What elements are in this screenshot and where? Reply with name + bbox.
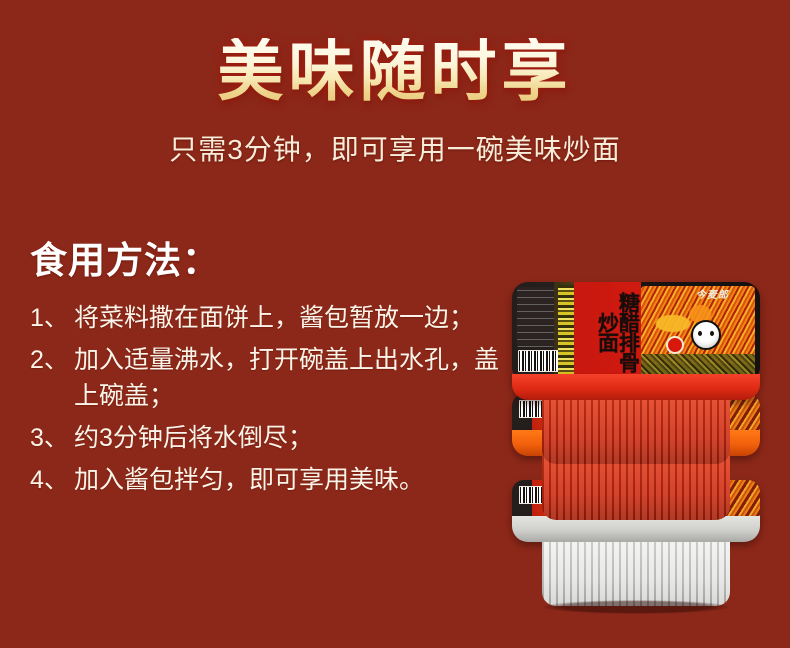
page-subtitle: 只需3分钟，即可享用一碗美味炒面 bbox=[0, 128, 790, 168]
usage-step-index: 3、 bbox=[30, 420, 74, 456]
promo-page: 美味随时享 只需3分钟，即可享用一碗美味炒面 食用方法： 1、 将菜料撒在面饼上… bbox=[0, 0, 790, 648]
bowl-lid-rim-top bbox=[512, 374, 760, 400]
mascot-character-icon bbox=[691, 320, 721, 350]
product-image-noodle-bowl-stack: 糖醋排骨炒面 今麦郎 bbox=[512, 282, 760, 572]
usage-step-text: 加入酱包拌匀，即可享用美味。 bbox=[74, 462, 510, 498]
usage-heading: 食用方法： bbox=[30, 230, 510, 284]
usage-instructions-section: 食用方法： 1、 将菜料撒在面饼上，酱包暂放一边； 2、 加入适量沸水，打开碗盖… bbox=[30, 230, 510, 504]
bowl-body-top bbox=[542, 400, 730, 464]
bowl-lid-artwork: 糖醋排骨炒面 今麦郎 bbox=[512, 282, 760, 378]
product-flavor-name: 糖醋排骨炒面 bbox=[576, 285, 638, 377]
usage-step-2: 2、 加入适量沸水，打开碗盖上出水孔，盖上碗盖； bbox=[30, 342, 510, 414]
bowl-body-bottom bbox=[542, 542, 730, 606]
usage-step-text: 将菜料撒在面饼上，酱包暂放一边； bbox=[74, 300, 510, 336]
page-title: 美味随时享 bbox=[0, 38, 790, 108]
usage-step-index: 4、 bbox=[30, 462, 74, 498]
lid-seed-strip bbox=[558, 285, 574, 375]
stack-drop-shadow bbox=[542, 600, 730, 614]
usage-step-index: 1、 bbox=[30, 300, 74, 336]
usage-step-3: 3、 约3分钟后将水倒尽； bbox=[30, 420, 510, 456]
garnish-illustration bbox=[641, 354, 755, 376]
usage-step-4: 4、 加入酱包拌匀，即可享用美味。 bbox=[30, 462, 510, 498]
usage-step-index: 2、 bbox=[30, 342, 74, 378]
usage-step-text: 加入适量沸水，打开碗盖上出水孔，盖上碗盖； bbox=[74, 342, 510, 414]
lid-instruction-panel-icon bbox=[517, 287, 554, 347]
usage-step-list: 1、 将菜料撒在面饼上，酱包暂放一边； 2、 加入适量沸水，打开碗盖上出水孔，盖… bbox=[30, 300, 510, 498]
noodle-bowl-top: 糖醋排骨炒面 今麦郎 bbox=[512, 282, 760, 464]
usage-step-text: 约3分钟后将水倒尽； bbox=[74, 420, 510, 456]
red-seal-icon bbox=[666, 336, 684, 354]
bowl-body-middle bbox=[542, 456, 730, 520]
usage-step-1: 1、 将菜料撒在面饼上，酱包暂放一边； bbox=[30, 300, 510, 336]
brand-logo: 今麦郎 bbox=[696, 286, 732, 301]
